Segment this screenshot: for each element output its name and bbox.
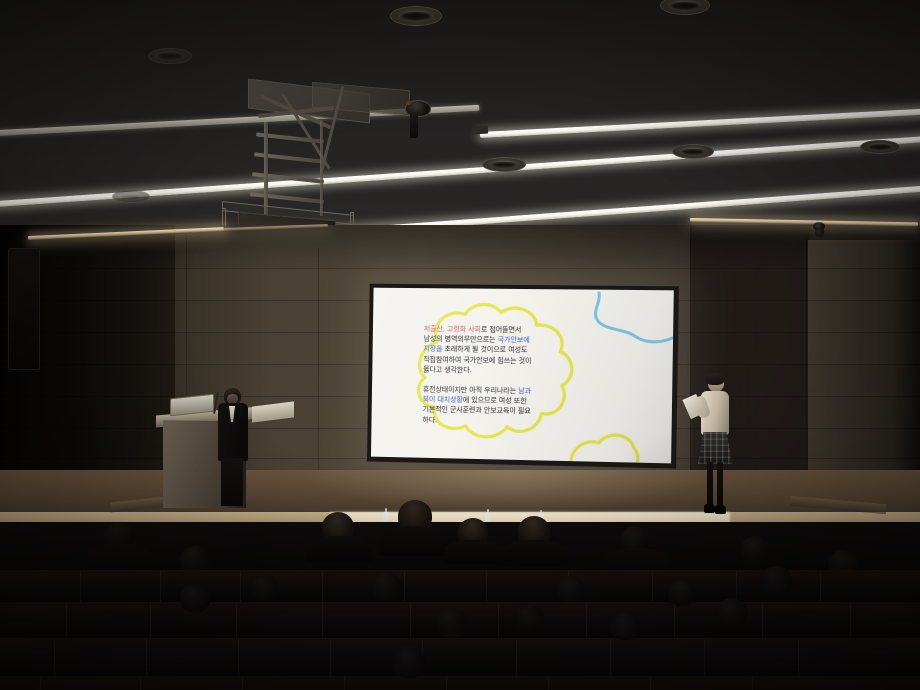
recessed-downlight [482, 157, 526, 172]
slide-paragraph-2: 휴전상태이지만 아직 우리나라는 남과 북이 대치상황에 있으므로 여성 또한 … [422, 384, 574, 427]
audience-member-shoulders [380, 526, 452, 556]
recessed-downlight [112, 190, 150, 203]
audience-member [760, 566, 792, 596]
audience-member [668, 580, 696, 606]
stage-light-pool [300, 470, 720, 514]
cloud-shape-small-icon [569, 422, 641, 463]
standing-presenter [695, 372, 739, 524]
slide-line: 옳다고 생각한다. [423, 364, 574, 377]
slide-line-part: 남성의 병역의무만으로는 [424, 334, 498, 344]
slide-blue-phrase: 국가안보에 [498, 335, 530, 344]
ceiling [0, 0, 920, 232]
presenter-shoe [715, 505, 726, 514]
seat-row [0, 638, 920, 680]
audience-member [716, 598, 748, 628]
blue-curve-decoration [583, 292, 674, 352]
slide-line-part: 휴전상태이지만 아직 우리나라는 [423, 384, 519, 395]
seat-row [0, 676, 920, 690]
audience-seating [0, 522, 920, 690]
audience-member-shoulders [88, 544, 152, 570]
wall-speaker [8, 248, 40, 370]
presenter-shoe [704, 504, 715, 513]
audience-member [392, 646, 426, 678]
recessed-downlight [148, 48, 192, 64]
audience-member [556, 576, 584, 602]
presenter-hair-front [706, 373, 724, 385]
auditorium-photo: 저출산, 고령화 사회로 접어들면서 남성의 병역의무만으로는 국가안보에 지장… [0, 0, 920, 690]
audience-member-shoulders [502, 540, 568, 566]
lift-post [320, 120, 323, 216]
presenter-leg [707, 462, 713, 506]
audience-member [514, 604, 544, 632]
audience-member-shoulders [306, 536, 372, 562]
recessed-downlight [390, 6, 442, 26]
slide-blue-phrase: 지장을 [423, 344, 442, 353]
slide-line-part: 에 있으므로 여성 또한 [463, 395, 527, 405]
audience-member [250, 574, 278, 600]
slide-text-block: 저출산, 고령화 사회로 접어들면서 남성의 병역의무만으로는 국가안보에 지장… [422, 324, 575, 428]
projection-screen: 저출산, 고령화 사회로 접어들면서 남성의 병역의무만으로는 국가안보에 지장… [367, 284, 679, 469]
audience-member [740, 536, 770, 564]
slide-blue-phrase: 북이 대치상황 [423, 395, 463, 405]
dome-camera-lens [815, 229, 824, 237]
indicator-led-icon [406, 101, 411, 105]
audience-member [610, 612, 640, 640]
slide-paragraph-1: 저출산, 고령화 사회로 접어들면서 남성의 병역의무만으로는 국가안보에 지장… [423, 324, 575, 377]
slide-surface: 저출산, 고령화 사회로 접어들면서 남성의 병역의무만으로는 국가안보에 지장… [371, 288, 674, 464]
ceiling-device-stem [410, 112, 418, 138]
presenter-leg [717, 462, 723, 506]
recessed-downlight [672, 144, 714, 159]
slide-red-phrase: 저출산, 고령화 사회 [424, 324, 481, 334]
audience-member [372, 572, 402, 600]
speaker-at-podium [216, 388, 250, 506]
ceiling-light-strip-1 [480, 106, 920, 138]
lift-rung [250, 192, 324, 204]
slide-line-part: 초래하게 될 것이으로 여성도 [442, 344, 527, 354]
audience-member [180, 584, 210, 612]
speaker-legs [221, 458, 243, 506]
slide-blue-phrase: 남과 [518, 386, 531, 395]
light-strip-splice [472, 126, 488, 135]
recessed-downlight [860, 140, 900, 154]
audience-member-shoulders [444, 540, 506, 564]
slide-line-rest: 로 접어들면서 [481, 325, 522, 334]
recessed-downlight [660, 0, 710, 15]
audience-member [436, 608, 468, 638]
presenter-plaid-skirt [698, 432, 732, 464]
lift-post [264, 122, 268, 216]
